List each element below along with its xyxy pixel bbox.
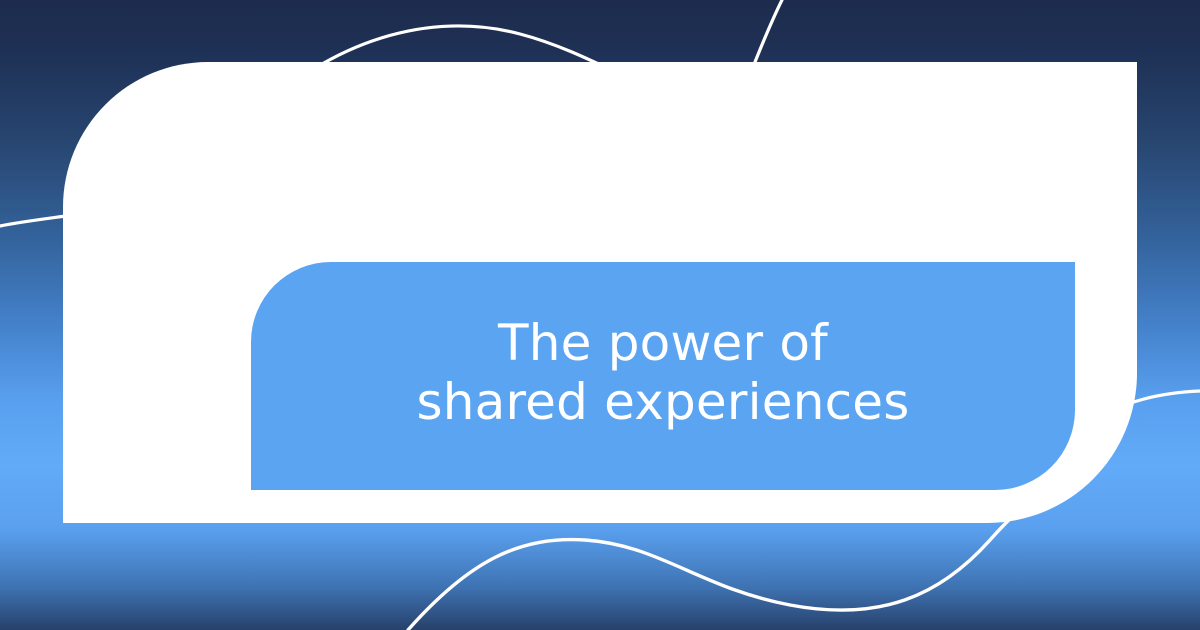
white-card-panel: The power of shared experiences [63, 62, 1137, 523]
headline-text: The power of shared experiences [416, 314, 909, 438]
left-short-curve-line [0, 216, 66, 226]
right-short-curve-line [1128, 391, 1200, 404]
banner-card: The power of shared experiences [0, 0, 1200, 630]
headline-panel: The power of shared experiences [251, 262, 1075, 490]
